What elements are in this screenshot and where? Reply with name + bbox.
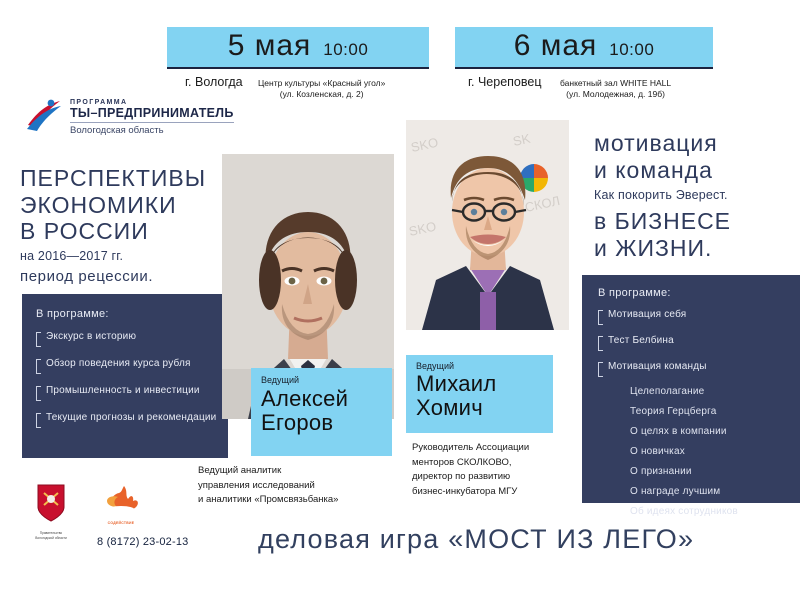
date-banner-1: 5 мая 10:00 <box>167 27 429 67</box>
right-program-item-2: Тест Белбина <box>598 335 800 351</box>
speaker-card-alexey: Ведущий Алексей Егоров <box>251 368 392 456</box>
right-subtitle-1: Как покорить Эверест. <box>594 188 799 202</box>
bio-alexey-line-1: Ведущий аналитик <box>198 464 398 479</box>
left-program-title: В программе: <box>36 308 228 320</box>
right-headline2-line-1: в БИЗНЕСЕ <box>594 208 799 235</box>
right-headline-line-2: и команда <box>594 157 799 184</box>
right-headline-group: мотивация и команда Как покорить Эверест… <box>594 130 799 262</box>
speaker-card-mikhail: Ведущий Михаил Хомич <box>406 355 553 433</box>
event-date-1: 5 мая <box>228 29 312 63</box>
left-program-item-label-2: Обзор поведения курса рубля <box>46 358 191 370</box>
right-subitem-7: Об идеях сотрудников <box>630 506 800 518</box>
bio-mikhail-line-3: директор по развитию <box>412 470 587 485</box>
right-program-sublist: Целеполагание Теория Герцберга О целях в… <box>630 386 800 518</box>
bracket-icon <box>598 310 603 325</box>
speaker-role-alexey: Ведущий <box>261 375 392 385</box>
right-subitem-2: Теория Герцберга <box>630 406 800 418</box>
left-program-item-label-3: Промышленность и инвестиции <box>46 385 200 397</box>
bio-alexey-line-3: и аналитики «Промсвязьбанка» <box>198 493 398 508</box>
event-venue-2: банкетный зал WHITE HALL (ул. Молодежная… <box>560 78 671 101</box>
right-headline-line-1: мотивация <box>594 130 799 157</box>
event-city-1: г. Вологда <box>185 75 243 89</box>
speaker-bio-mikhail: Руководитель Ассоциации менторов СКОЛКОВ… <box>412 441 587 500</box>
brand-line-2: ТЫ–ПРЕДПРИНИМАТЕЛЬ <box>70 106 234 120</box>
sponsor-sodeystvie-caption: СОДЕЙСТВИЕ <box>98 521 144 525</box>
right-program-item-label-3: Мотивация команды <box>608 361 707 373</box>
right-program-item-1: Мотивация себя <box>598 309 800 325</box>
left-headline-line-1: ПЕРСПЕКТИВЫ <box>20 165 235 192</box>
right-headline2-line-2: и ЖИЗНИ. <box>594 235 799 262</box>
bio-mikhail-line-4: бизнес-инкубатора МГУ <box>412 485 587 500</box>
speaker-firstname-alexey: Алексей <box>261 387 392 411</box>
bracket-icon <box>598 336 603 351</box>
date-banner-2: 6 мая 10:00 <box>455 27 713 67</box>
speaker-bio-alexey: Ведущий аналитик управления исследований… <box>198 464 398 508</box>
left-headline-group: ПЕРСПЕКТИВЫ ЭКОНОМИКИ В РОССИИ на 2016—2… <box>20 165 235 285</box>
event-date-2: 6 мая <box>514 29 598 63</box>
event-block-2: 6 мая 10:00 <box>455 27 713 69</box>
bracket-icon <box>36 359 41 374</box>
bio-mikhail-line-2: менторов СКОЛКОВО, <box>412 456 587 471</box>
left-program-item-label-1: Экскурс в историю <box>46 331 136 343</box>
right-subitem-3: О целях в компании <box>630 426 800 438</box>
runner-swoosh-icon <box>24 95 64 140</box>
right-program-panel: В программе: Мотивация себя Тест Белбина… <box>582 275 800 503</box>
right-program-title: В программе: <box>598 287 800 299</box>
bio-alexey-line-2: управления исследований <box>198 479 398 494</box>
program-logo-text: ПРОГРАММА ТЫ–ПРЕДПРИНИМАТЕЛЬ Вологодская… <box>70 99 234 136</box>
date-underline-2 <box>455 67 713 69</box>
right-subitem-5: О признании <box>630 466 800 478</box>
poster-canvas: 5 мая 10:00 г. Вологда Центр культуры «К… <box>0 0 800 600</box>
event-time-2: 10:00 <box>609 40 654 60</box>
speaker-role-mikhail: Ведущий <box>416 361 553 371</box>
right-subitem-6: О награде лучшим <box>630 486 800 498</box>
program-logo: ПРОГРАММА ТЫ–ПРЕДПРИНИМАТЕЛЬ Вологодская… <box>24 95 234 140</box>
speaker-photo-mikhail: SKO SK СКОЛ SKO <box>406 120 569 330</box>
left-program-panel: В программе: Экскурс в историю Обзор пов… <box>22 294 228 458</box>
brand-line-3: Вологодская область <box>70 125 234 136</box>
event-address-2: (ул. Молодежная, д. 19б) <box>560 89 671 100</box>
left-program-item-3: Промышленность и инвестиции <box>36 385 228 401</box>
sponsor-logo-sodeystvie: СОДЕЙСТВИЕ <box>98 484 144 525</box>
date-underline-1 <box>167 67 429 69</box>
brand-line-1: ПРОГРАММА <box>70 99 234 106</box>
right-program-item-label-2: Тест Белбина <box>608 335 674 347</box>
speaker-firstname-mikhail: Михаил <box>416 372 553 396</box>
event-venue-name-1: Центр культуры «Красный угол» <box>258 78 385 89</box>
sponsor-vologda-caption: ПравительствоВологодской области <box>28 531 74 541</box>
event-venue-name-2: банкетный зал WHITE HALL <box>560 78 671 89</box>
brand-divider <box>70 122 234 123</box>
left-program-item-label-4: Текущие прогнозы и рекомендации <box>46 412 216 424</box>
sponsor-logo-vologda: ПравительствоВологодской области <box>28 483 74 541</box>
left-program-list: Экскурс в историю Обзор поведения курса … <box>36 331 228 428</box>
left-headline-line-3: В РОССИИ <box>20 218 235 245</box>
left-subtitle-2: период рецессии. <box>20 268 235 285</box>
event-time-1: 10:00 <box>323 40 368 60</box>
left-headline-line-2: ЭКОНОМИКИ <box>20 192 235 219</box>
right-program-item-3: Мотивация команды <box>598 361 800 377</box>
speaker-lastname-alexey: Егоров <box>261 411 392 435</box>
event-address-1: (ул. Козленская, д. 2) <box>258 89 385 100</box>
bracket-icon <box>36 332 41 347</box>
left-subtitle-1: на 2016—2017 гг. <box>20 249 235 263</box>
contact-phone[interactable]: 8 (8172) 23-02-13 <box>97 536 188 548</box>
right-subitem-1: Целеполагание <box>630 386 800 398</box>
event-block-1: 5 мая 10:00 <box>167 27 429 69</box>
bracket-icon <box>598 362 603 377</box>
bracket-icon <box>36 386 41 401</box>
right-program-list: Мотивация себя Тест Белбина Мотивация ко… <box>598 309 800 377</box>
right-subitem-4: О новичках <box>630 446 800 458</box>
event-venue-1: Центр культуры «Красный угол» (ул. Козле… <box>258 78 385 101</box>
bracket-icon <box>36 413 41 428</box>
left-program-item-4: Текущие прогнозы и рекомендации <box>36 412 228 428</box>
left-program-item-1: Экскурс в историю <box>36 331 228 347</box>
footer-tagline: деловая игра «МОСТ ИЗ ЛЕГО» <box>258 524 694 555</box>
right-program-item-label-1: Мотивация себя <box>608 309 686 321</box>
event-city-2: г. Череповец <box>468 75 542 89</box>
speaker-lastname-mikhail: Хомич <box>416 396 553 420</box>
bio-mikhail-line-1: Руководитель Ассоциации <box>412 441 587 456</box>
left-program-item-2: Обзор поведения курса рубля <box>36 358 228 374</box>
